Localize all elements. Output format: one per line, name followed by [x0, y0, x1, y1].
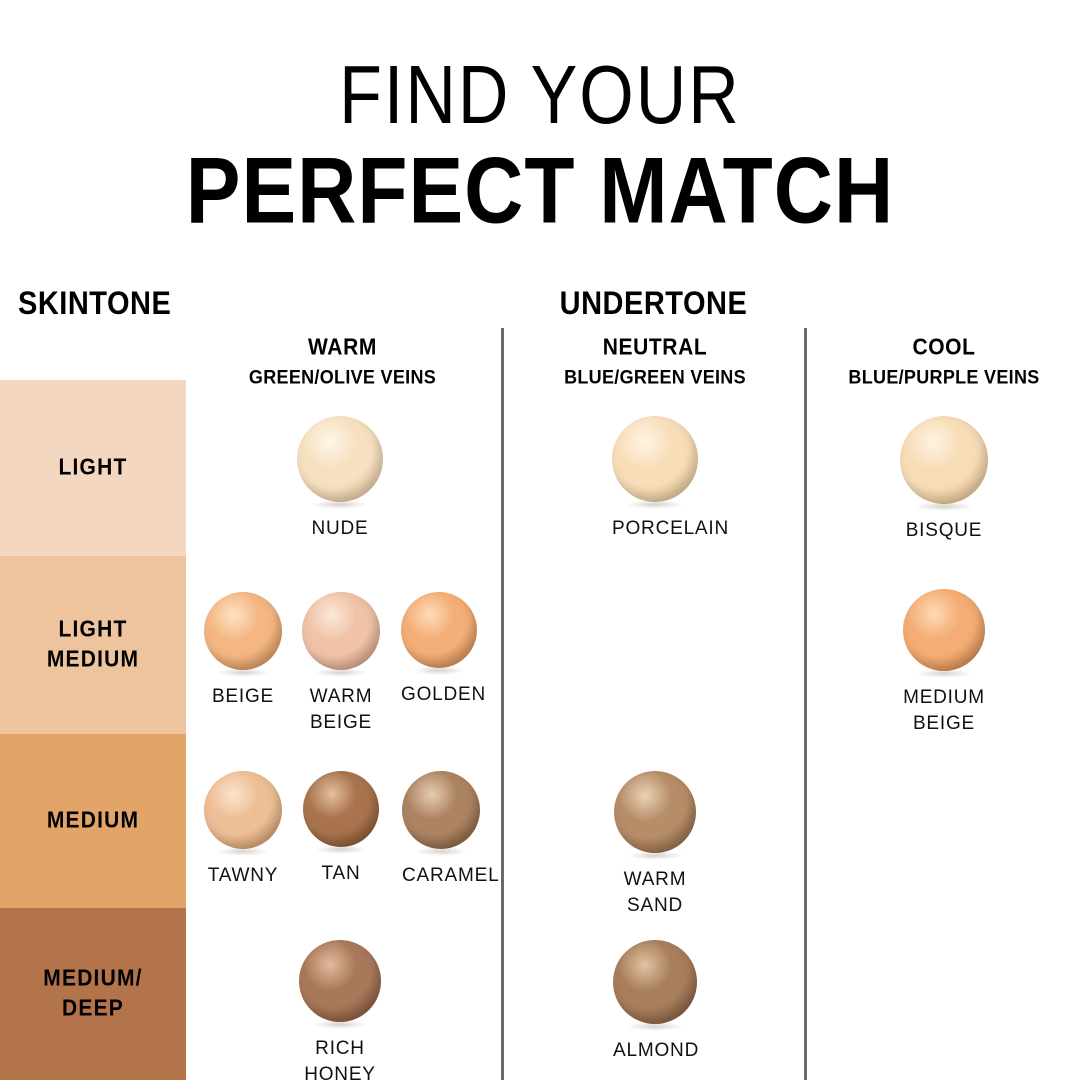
- skintone-band-medium--deep[interactable]: MEDIUM/ DEEP: [0, 908, 186, 1080]
- skintone-band-label: LIGHT: [59, 453, 128, 483]
- shade-swatch-medium-beige[interactable]: MEDIUM BEIGE: [903, 589, 985, 737]
- skintone-band-medium[interactable]: MEDIUM: [0, 734, 186, 908]
- shade-swatch-nude[interactable]: NUDE: [297, 416, 383, 542]
- shade-swatch-bisque[interactable]: BISQUE: [900, 416, 988, 544]
- shade-sphere: [297, 416, 383, 502]
- shade-swatch-beige[interactable]: BEIGE: [204, 592, 282, 710]
- title-line-1: FIND YOUR: [0, 52, 1080, 137]
- shade-label: NUDE: [297, 516, 383, 542]
- shade-sphere: [204, 771, 282, 849]
- shade-label: GOLDEN: [401, 682, 477, 708]
- shade-sphere: [613, 940, 697, 1024]
- shade-label: TAN: [303, 861, 379, 887]
- skintone-heading: SKINTONE: [18, 286, 171, 323]
- column-header-neutral-subtitle: BLUE/GREEN VEINS: [505, 366, 805, 389]
- shade-sphere: [900, 416, 988, 504]
- shade-label: TAWNY: [204, 863, 282, 889]
- column-header-cool-title: COOL: [808, 335, 1080, 361]
- shade-label: ALMOND: [613, 1038, 697, 1064]
- shade-sphere: [402, 771, 480, 849]
- skintone-band-label: MEDIUM: [47, 806, 139, 836]
- shade-swatch-porcelain[interactable]: PORCELAIN: [612, 416, 698, 542]
- column-divider-warm-neutral: [501, 328, 504, 1080]
- shade-sphere: [303, 771, 379, 847]
- shade-swatch-almond[interactable]: ALMOND: [613, 940, 697, 1064]
- shade-swatch-golden[interactable]: GOLDEN: [401, 592, 477, 708]
- shade-sphere: [903, 589, 985, 671]
- shade-swatch-tan[interactable]: TAN: [303, 771, 379, 887]
- shade-label: BEIGE: [204, 684, 282, 710]
- page-title: FIND YOUR PERFECT MATCH: [0, 52, 1080, 228]
- skintone-band-label: MEDIUM/ DEEP: [43, 964, 142, 1024]
- column-header-cool: COOL BLUE/PURPLE VEINS: [808, 336, 1080, 388]
- shade-sphere: [302, 592, 380, 670]
- column-header-warm-subtitle: GREEN/OLIVE VEINS: [195, 366, 490, 389]
- shade-sphere: [612, 416, 698, 502]
- shade-label: RICH HONEY: [299, 1036, 381, 1088]
- column-header-cool-subtitle: BLUE/PURPLE VEINS: [808, 366, 1080, 389]
- shade-swatch-tawny[interactable]: TAWNY: [204, 771, 282, 889]
- column-header-neutral-title: NEUTRAL: [505, 335, 805, 361]
- shade-label: BISQUE: [900, 518, 988, 544]
- shade-label: CARAMEL: [402, 863, 480, 889]
- skintone-band-light[interactable]: LIGHT: [0, 380, 186, 556]
- skintone-band-light-medium[interactable]: LIGHT MEDIUM: [0, 556, 186, 734]
- shade-sphere: [614, 771, 696, 853]
- shade-swatch-rich-honey[interactable]: RICH HONEY: [299, 940, 381, 1088]
- shade-label: PORCELAIN: [612, 516, 698, 542]
- shade-sphere: [299, 940, 381, 1022]
- shade-swatch-warm-sand[interactable]: WARM SAND: [614, 771, 696, 919]
- shade-swatch-warm-beige[interactable]: WARM BEIGE: [302, 592, 380, 736]
- column-header-warm: WARM GREEN/OLIVE VEINS: [195, 336, 490, 388]
- shade-sphere: [401, 592, 477, 668]
- shade-sphere: [204, 592, 282, 670]
- undertone-heading: UNDERTONE: [502, 286, 805, 323]
- column-header-neutral: NEUTRAL BLUE/GREEN VEINS: [505, 336, 805, 388]
- column-divider-neutral-cool: [804, 328, 807, 1080]
- shade-swatch-caramel[interactable]: CARAMEL: [402, 771, 480, 889]
- column-header-warm-title: WARM: [195, 335, 490, 361]
- shade-label: MEDIUM BEIGE: [903, 685, 985, 737]
- skintone-band-label: LIGHT MEDIUM: [47, 615, 139, 675]
- shade-label: WARM SAND: [614, 867, 696, 919]
- shade-label: WARM BEIGE: [302, 684, 380, 736]
- title-line-2: PERFECT MATCH: [0, 144, 1080, 240]
